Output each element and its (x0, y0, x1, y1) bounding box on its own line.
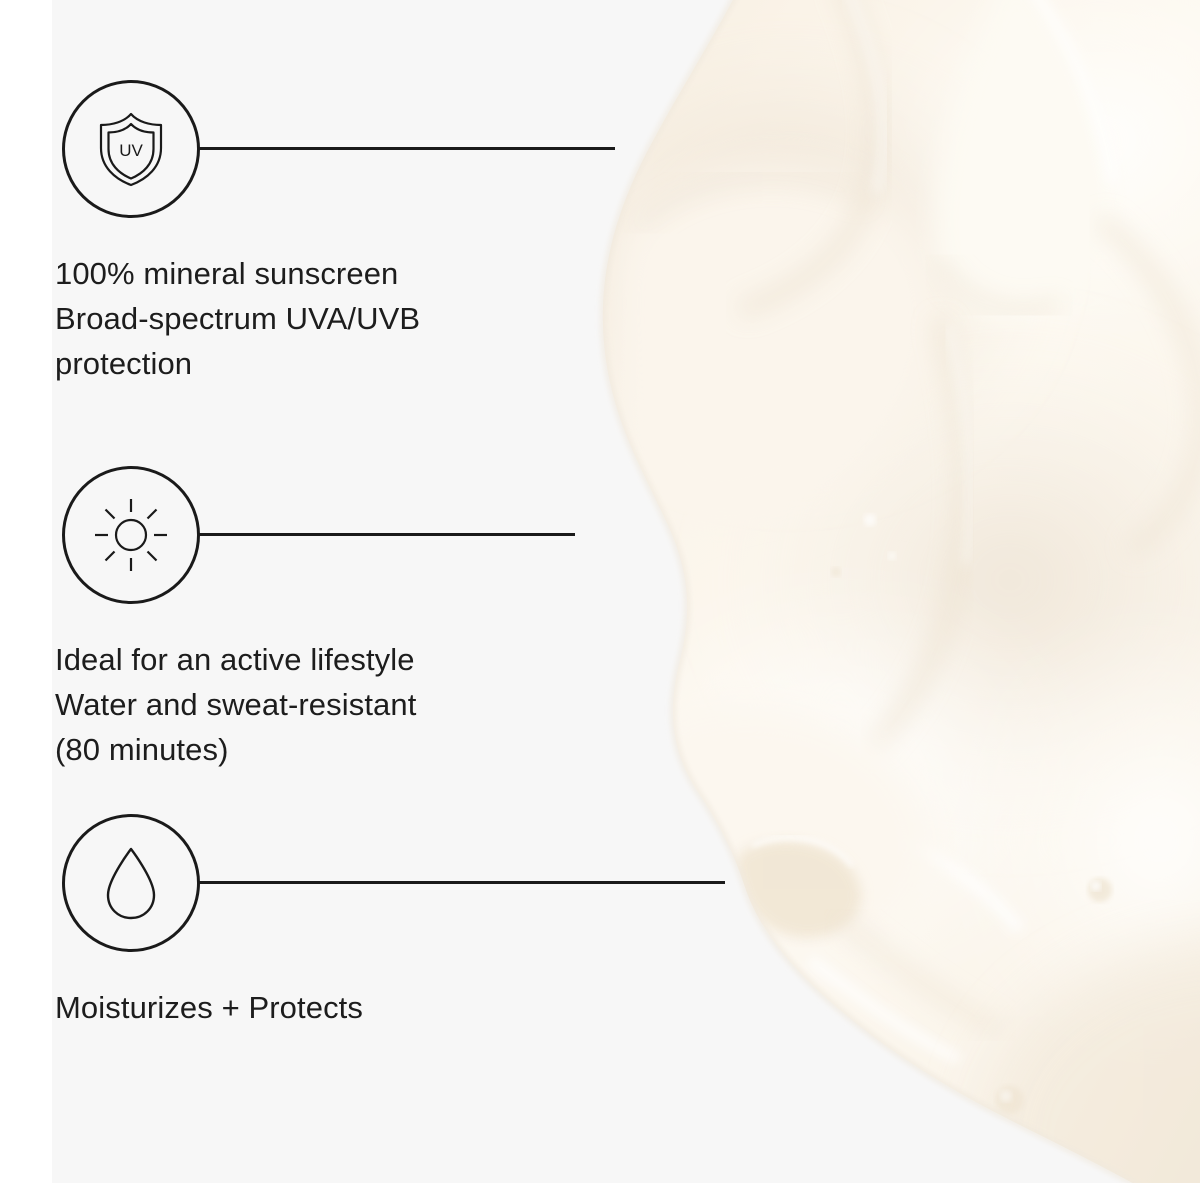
feature-text-2-line-1: Ideal for an active lifestyle (55, 637, 575, 682)
feature-text-2: Ideal for an active lifestyle Water and … (55, 637, 575, 772)
feature-icon-circle-droplet (62, 814, 200, 952)
sun-icon (93, 497, 169, 573)
feature-text-2-line-2: Water and sweat-resistant (55, 682, 575, 727)
feature-text-2-line-3: (80 minutes) (55, 727, 575, 772)
water-droplet-icon (101, 844, 161, 922)
infographic-canvas: UV 100% mineral sunscreen Broad-spect (0, 0, 1200, 1183)
connector-line-2 (197, 533, 575, 536)
feature-text-3-line-1: Moisturizes + Protects (55, 985, 575, 1030)
cream-swatch-photo (540, 0, 1200, 1183)
connector-line-1 (197, 147, 615, 150)
uv-shield-label: UV (119, 141, 143, 160)
feature-icon-circle-uv-shield: UV (62, 80, 200, 218)
feature-text-1: 100% mineral sunscreen Broad-spectrum UV… (55, 251, 575, 386)
feature-text-1-line-1: 100% mineral sunscreen (55, 251, 575, 296)
uv-shield-icon: UV (94, 110, 168, 188)
connector-line-3 (197, 881, 725, 884)
feature-text-1-line-3: protection (55, 341, 575, 386)
feature-text-1-line-2: Broad-spectrum UVA/UVB (55, 296, 575, 341)
feature-text-3: Moisturizes + Protects (55, 985, 575, 1030)
left-white-margin (0, 0, 52, 1183)
feature-icon-circle-sun (62, 466, 200, 604)
